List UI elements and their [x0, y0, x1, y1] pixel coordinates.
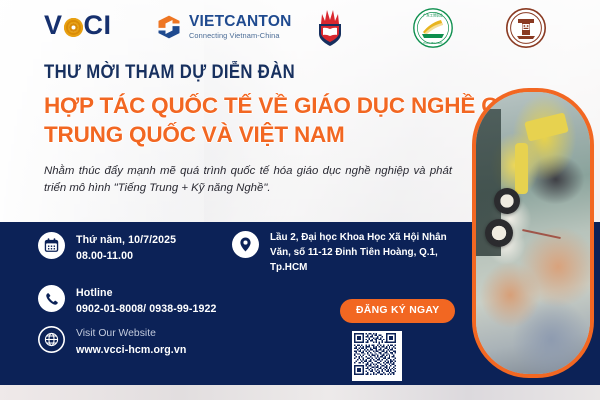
subtitle-text: Nhằm thúc đẩy mạnh mẽ quá trình quốc tế …	[44, 163, 452, 198]
phone-icon	[38, 285, 65, 312]
headline-block: THƯ MỜI THAM DỰ DIỄN ĐÀN HỢP TÁC QUỐC TẾ…	[44, 62, 474, 197]
brown-circle-logo-icon	[505, 7, 547, 49]
vcci-letter-c: C	[84, 12, 104, 39]
event-invitation-poster: V C I VIETCANTON Connecting Vietnam-Chin…	[0, 0, 600, 400]
website-url[interactable]: www.vcci-hcm.org.vn	[76, 342, 186, 358]
event-address: Lầu 2, Đại học Khoa Học Xã Hội Nhân Văn,…	[270, 231, 447, 276]
photo-wheel-lower	[485, 219, 513, 247]
register-now-button[interactable]: ĐĂNG KÝ NGAY	[340, 299, 455, 323]
vietcanton-mark-icon	[155, 13, 183, 41]
vcci-logo: V C I	[44, 12, 112, 39]
svg-text:广东工贸职业: 广东工贸职业	[423, 13, 444, 18]
svg-text:POLYTECHNIC: POLYTECHNIC	[423, 41, 442, 45]
green-circle-logo-icon: 广东工贸职业 POLYTECHNIC	[412, 7, 454, 49]
feature-photo-pill	[472, 88, 594, 378]
vcci-letter-i: I	[104, 12, 112, 39]
main-title: HỢP TÁC QUỐC TẾ VỀ GIÁO DỤC NGHỀ GIỮA TR…	[44, 92, 474, 150]
photo-robot-arm-joint	[515, 143, 529, 194]
hotline-row: Hotline 0902-01-8008/ 0938-99-1922	[38, 285, 216, 318]
vietcanton-tagline: Connecting Vietnam-China	[189, 32, 291, 40]
main-title-line-2: TRUNG QUỐC VÀ VIỆT NAM	[44, 121, 474, 150]
qr-code[interactable]	[352, 331, 402, 381]
event-date: Thứ năm, 10/7/2025	[76, 232, 176, 248]
location-pin-icon	[232, 231, 259, 258]
vietcanton-name: VIETCANTON	[189, 14, 291, 30]
vcci-letter-v: V	[44, 12, 63, 39]
location-row: Lầu 2, Đại học Khoa Học Xã Hội Nhân Văn,…	[232, 231, 447, 276]
website-row[interactable]: Visit Our Website www.vcci-hcm.org.vn	[38, 326, 186, 358]
event-time: 08.00-11.00	[76, 248, 176, 264]
hotline-numbers: 0902-01-8008/ 0938-99-1922	[76, 301, 216, 317]
globe-icon	[38, 326, 65, 353]
main-title-line-1: HỢP TÁC QUỐC TẾ VỀ GIÁO DỤC NGHỀ GIỮA	[44, 93, 539, 118]
logo-bar: V C I VIETCANTON Connecting Vietnam-Chin…	[0, 0, 600, 56]
kicker-text: THƯ MỜI THAM DỰ DIỄN ĐÀN	[44, 62, 422, 84]
vcci-gear-icon	[64, 18, 83, 37]
shield-logo-icon	[313, 8, 347, 48]
calendar-icon	[38, 232, 65, 259]
vietcanton-logo: VIETCANTON Connecting Vietnam-China	[155, 13, 291, 41]
photo-wheel-upper	[494, 188, 520, 214]
website-label: Visit Our Website	[76, 326, 186, 342]
date-time-row: Thứ năm, 10/7/2025 08.00-11.00	[38, 232, 176, 265]
hotline-label: Hotline	[76, 285, 216, 301]
footer-strip	[0, 385, 600, 400]
